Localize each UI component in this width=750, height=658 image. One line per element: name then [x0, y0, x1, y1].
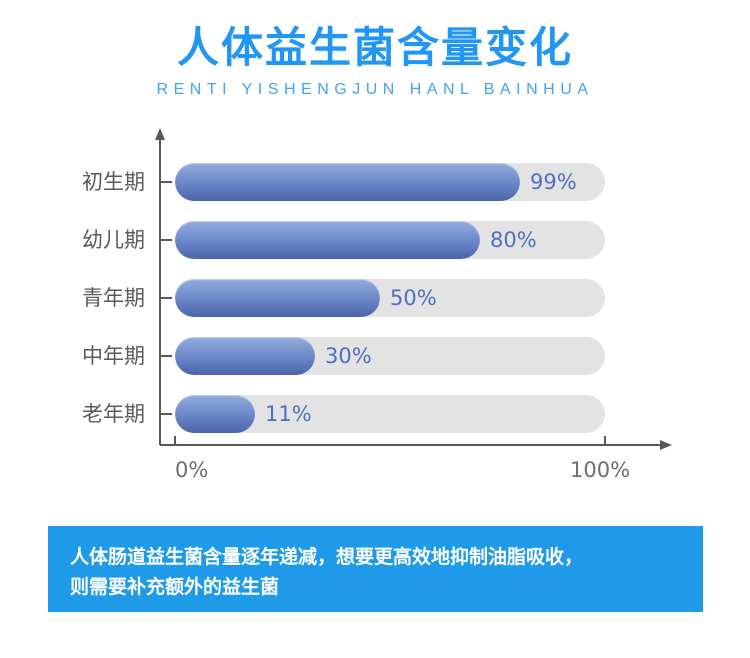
- bar-fill: [175, 221, 480, 259]
- category-label: 老年期: [40, 395, 145, 433]
- category-label: 中年期: [40, 337, 145, 375]
- bar-track: 11%: [175, 395, 605, 433]
- category-label: 幼儿期: [40, 221, 145, 259]
- x-axis-tick-label-0: 0%: [175, 458, 208, 482]
- bar-fill: [175, 337, 315, 375]
- banner-line-2: 则需要补充额外的益生菌: [70, 572, 683, 602]
- bar-value-label: 80%: [490, 221, 537, 259]
- bar-fill: [175, 163, 520, 201]
- page-title: 人体益生菌含量变化: [0, 22, 750, 74]
- bar-value-label: 11%: [265, 395, 312, 433]
- banner-line-1: 人体肠道益生菌含量逐年递减，想要更高效地抑制油脂吸收，: [70, 542, 683, 572]
- x-axis-arrow-icon: [660, 440, 672, 450]
- summary-banner: 人体肠道益生菌含量逐年递减，想要更高效地抑制油脂吸收， 则需要补充额外的益生菌: [48, 526, 703, 612]
- bar-value-label: 50%: [390, 279, 437, 317]
- bar-fill: [175, 279, 380, 317]
- page-subtitle: RENTI YISHENGJUN HANL BAINHUA: [0, 80, 750, 100]
- bar-fill: [175, 395, 255, 433]
- bar-track: 50%: [175, 279, 605, 317]
- x-axis-tick-label-100: 100%: [570, 458, 630, 482]
- category-label: 初生期: [40, 163, 145, 201]
- bar-value-label: 99%: [530, 163, 577, 201]
- bar-value-label: 30%: [325, 337, 372, 375]
- bar-track: 99%: [175, 163, 605, 201]
- bar-chart: 初生期 99% 幼儿期 80% 青年期 50% 中年期 30%: [0, 118, 750, 508]
- bar-track: 80%: [175, 221, 605, 259]
- bar-track: 30%: [175, 337, 605, 375]
- chart-header: 人体益生菌含量变化 RENTI YISHENGJUN HANL BAINHUA: [0, 0, 750, 100]
- y-axis-arrow-icon: [155, 128, 165, 140]
- category-label: 青年期: [40, 279, 145, 317]
